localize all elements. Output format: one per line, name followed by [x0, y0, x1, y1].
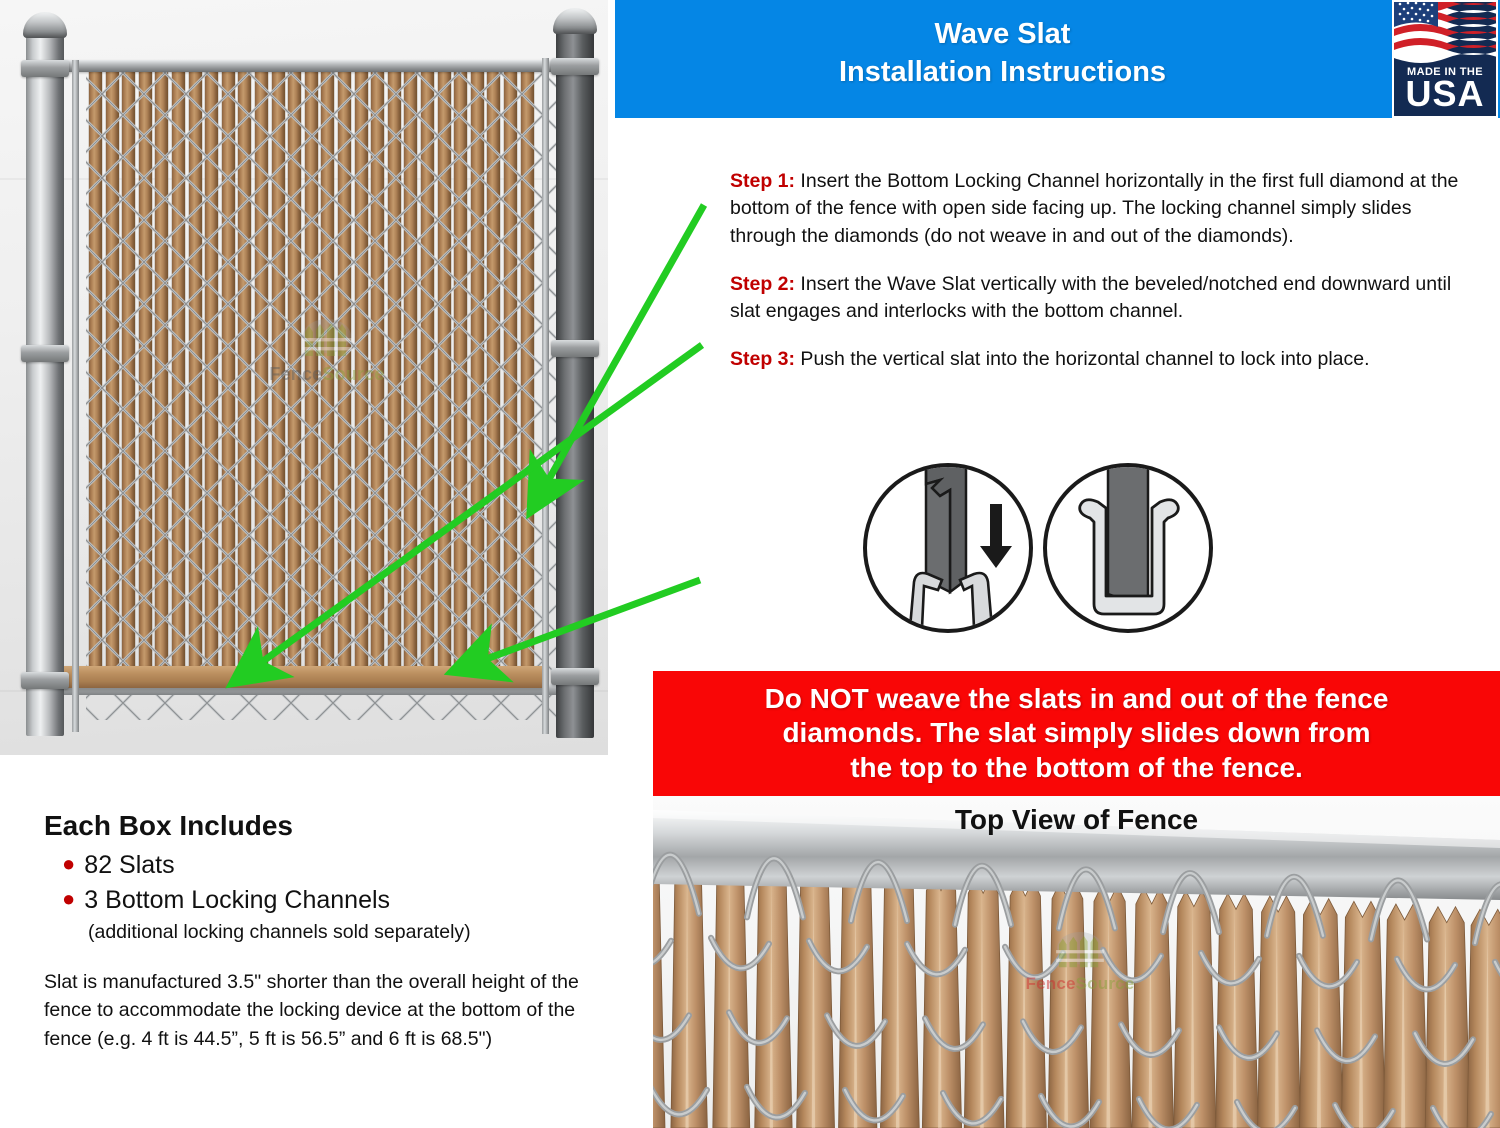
wave-slat-top-view	[1216, 893, 1259, 1128]
box-contents-title: Each Box Includes	[44, 810, 614, 842]
wave-slat	[272, 62, 285, 676]
post-band	[21, 672, 69, 689]
step-2-label: Step 2:	[730, 273, 795, 295]
wave-slat-top-view	[1383, 904, 1428, 1128]
wave-slat	[122, 62, 135, 676]
wave-slat	[89, 62, 102, 676]
bullet-icon: ●	[62, 850, 75, 878]
fence-post-right	[556, 20, 594, 738]
list-item: ● 3 Bottom Locking Channels	[62, 885, 614, 916]
post-band	[551, 340, 599, 357]
step-1-paragraph: Step 1: Insert the Bottom Locking Channe…	[730, 168, 1470, 251]
step-3-paragraph: Step 3: Push the vertical slat into the …	[730, 346, 1470, 374]
wave-slat	[355, 62, 368, 676]
fence-installation-photo: FenceSource	[0, 0, 608, 755]
box-item-slats: 82 Slats	[84, 850, 174, 881]
wave-slat	[487, 62, 500, 676]
wave-slat	[288, 62, 301, 676]
wave-slat	[189, 62, 202, 676]
post-band	[551, 668, 599, 685]
step-2-paragraph: Step 2: Insert the Wave Slat vertically …	[730, 271, 1470, 326]
wave-slat-top-view	[880, 872, 919, 1128]
wave-slat	[255, 62, 268, 676]
wave-slat	[238, 62, 251, 676]
tension-bar-left	[72, 60, 79, 732]
installation-steps: Step 1: Insert the Bottom Locking Channe…	[730, 148, 1470, 394]
fence-top-rail	[40, 60, 568, 72]
bottom-locking-channel	[62, 666, 544, 688]
wave-slat	[404, 62, 417, 676]
wave-slat	[421, 62, 434, 676]
title-line-1: Wave Slat	[615, 16, 1390, 54]
us-flag-icon	[1394, 2, 1496, 64]
box-contents-note: (additional locking channels sold separa…	[88, 921, 614, 944]
wave-slat	[504, 62, 517, 676]
wave-slat-top-view	[755, 864, 792, 1128]
warning-line-3: the top to the bottom of the fence.	[765, 751, 1389, 785]
wave-slat	[106, 62, 119, 676]
bullet-icon: ●	[62, 885, 75, 913]
warning-text: Do NOT weave the slats in and out of the…	[753, 682, 1401, 784]
list-item: ● 82 Slats	[62, 850, 614, 881]
wave-slat	[222, 62, 235, 676]
warning-line-1: Do NOT weave the slats in and out of the…	[765, 682, 1389, 716]
wave-slat	[205, 62, 218, 676]
wave-slat	[305, 62, 318, 676]
wave-slat	[172, 62, 185, 676]
post-band	[551, 58, 599, 75]
warning-banner: Do NOT weave the slats in and out of the…	[653, 671, 1500, 796]
slat-inserting-downward-diagram	[865, 462, 1031, 631]
wave-slat-top-view	[1467, 909, 1500, 1128]
wave-slat-top-view	[1258, 896, 1301, 1128]
wave-slat	[438, 62, 451, 676]
slat-measurement-note: Slat is manufactured 3.5" shorter than t…	[44, 968, 604, 1053]
wave-slat-top-view	[1341, 901, 1385, 1128]
wave-slat	[471, 62, 484, 676]
locking-mechanism-diagrams	[862, 462, 1214, 637]
tension-bar-right	[542, 58, 549, 734]
header-banner: Wave Slat Installation Instructions	[615, 0, 1500, 118]
top-view-label: Top View of Fence	[653, 804, 1500, 836]
usa-label: USA	[1394, 76, 1496, 112]
wave-slat-top-view	[964, 877, 1004, 1128]
wave-slat-top-view	[1174, 891, 1216, 1128]
wave-slat	[521, 62, 534, 676]
step-3-label: Step 3:	[730, 348, 795, 370]
box-item-channels: 3 Bottom Locking Channels	[84, 885, 390, 916]
step-1-text: Insert the Bottom Locking Channel horizo…	[730, 170, 1458, 247]
fence-post-left	[26, 24, 64, 736]
made-in-usa-badge: MADE IN THE USA	[1392, 0, 1498, 118]
wave-slat	[388, 62, 401, 676]
wave-slat-top-view	[671, 859, 707, 1128]
wave-slat	[139, 62, 152, 676]
step-1-label: Step 1:	[730, 170, 795, 192]
wave-slat-top-view	[1006, 880, 1046, 1128]
post-band	[21, 345, 69, 362]
wave-slat-field	[88, 62, 540, 676]
wave-slat-top-view	[1048, 883, 1089, 1128]
title-line-2: Installation Instructions	[615, 54, 1390, 92]
warning-line-2: diamonds. The slat simply slides down fr…	[765, 716, 1389, 750]
step-2-text: Insert the Wave Slat vertically with the…	[730, 273, 1451, 323]
wave-slat	[371, 62, 384, 676]
wave-slat	[338, 62, 351, 676]
wave-slat	[155, 62, 168, 676]
wave-slat-top-view	[1425, 907, 1470, 1128]
page-title: Wave Slat Installation Instructions	[615, 16, 1390, 91]
slat-locked-in-channel-diagram	[1045, 462, 1211, 631]
wave-slat	[454, 62, 467, 676]
top-view-photo: Top View of Fence	[653, 796, 1500, 1128]
step-3-text: Push the vertical slat into the horizont…	[795, 348, 1370, 370]
top-view-fence-illustration	[653, 796, 1500, 1128]
box-contents-section: Each Box Includes ● 82 Slats ● 3 Bottom …	[44, 810, 614, 944]
post-band	[21, 60, 69, 77]
wave-slat	[321, 62, 334, 676]
